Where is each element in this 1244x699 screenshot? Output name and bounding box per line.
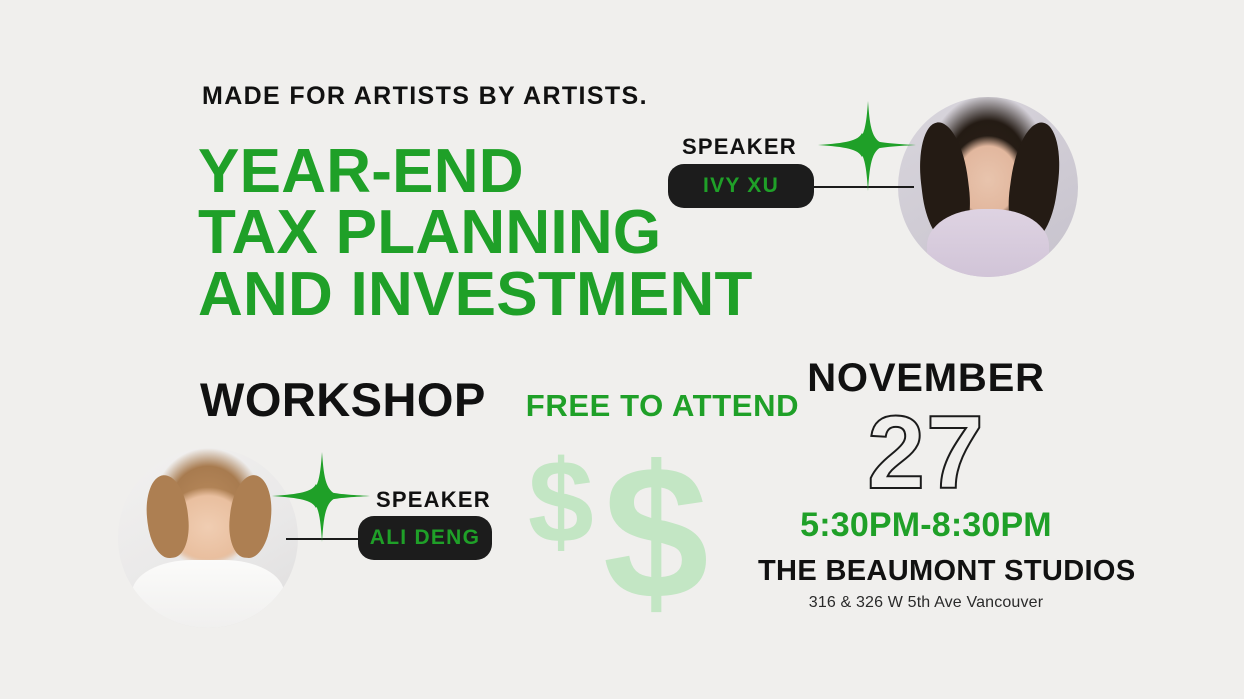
speaker-name-badge-ivy[interactable]: IVY XU (668, 164, 814, 208)
speaker-role-label-ivy: SPEAKER (682, 134, 797, 160)
speaker-name-ivy: IVY XU (703, 174, 779, 198)
event-address: 316 & 326 W 5th Ave Vancouver (758, 595, 1094, 611)
dollar-sign-small-icon: $ (528, 443, 594, 561)
event-time: 5:30PM-8:30PM (758, 508, 1094, 542)
avatar-ivy-xu (898, 97, 1078, 277)
tagline: MADE FOR ARTISTS BY ARTISTS. (202, 82, 648, 111)
headline-line-2: TAX PLANNING (198, 202, 753, 263)
headline-line-3: AND INVESTMENT (198, 264, 753, 325)
hair-right (225, 473, 275, 560)
shirt (927, 209, 1049, 277)
speaker-name-badge-ali[interactable]: ALI DENG (358, 516, 492, 560)
subtitle-row: WORKSHOP FREE TO ATTEND (200, 372, 799, 427)
hair-left (143, 473, 193, 560)
dollar-sign-large-icon: $ (603, 438, 709, 628)
shirt (132, 560, 283, 628)
workshop-label: WORKSHOP (200, 372, 486, 427)
page-title: YEAR-END TAX PLANNING AND INVESTMENT (198, 141, 753, 325)
event-venue: THE BEAUMONT STUDIOS (758, 557, 1094, 586)
event-details: NOVEMBER 27 5:30PM-8:30PM THE BEAUMONT S… (758, 358, 1094, 611)
speaker-role-label-ali: SPEAKER (376, 487, 491, 513)
sparkle-icon (816, 99, 920, 195)
speaker-name-ali: ALI DENG (370, 526, 480, 550)
event-month: NOVEMBER (758, 358, 1094, 398)
event-poster: $ $ MADE FOR ARTISTS BY ARTISTS. YEAR-EN… (0, 0, 1244, 699)
event-day: 27 (758, 400, 1094, 506)
